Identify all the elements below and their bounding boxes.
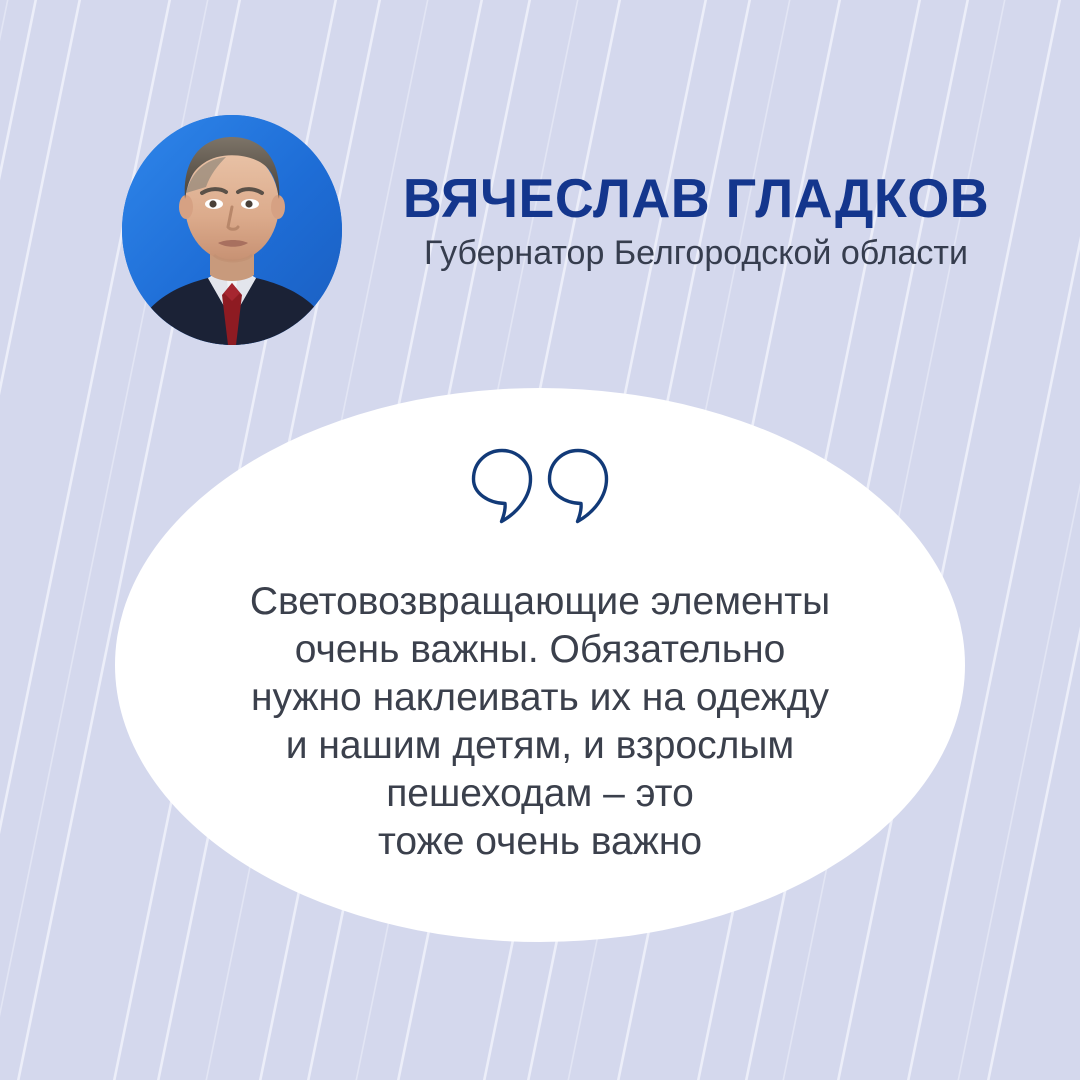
speaker-header: ВЯЧЕСЛАВ ГЛАДКОВ Губернатор Белгородской… [376,170,1016,272]
quote-line: и нашим детям, и взрослым [170,722,910,770]
quote-line: пешеходам – это [170,770,910,818]
quote-line: нужно наклеивать их на одежду [170,674,910,722]
quote-text: Световозвращающие элементы очень важны. … [170,578,910,866]
quote-line: тоже очень важно [170,818,910,866]
page-title: ВЯЧЕСЛАВ ГЛАДКОВ [382,170,1009,226]
quote-card: Световозвращающие элементы очень важны. … [115,388,965,942]
quote-line: Световозвращающие элементы [170,578,910,626]
double-quote-bubbles-icon [469,446,612,526]
quote-line: очень важны. Обязательно [170,626,910,674]
avatar [122,115,342,345]
speaker-position: Губернатор Белгородской области [376,234,1016,272]
quote-card-graphic: ВЯЧЕСЛАВ ГЛАДКОВ Губернатор Белгородской… [0,0,1080,1080]
